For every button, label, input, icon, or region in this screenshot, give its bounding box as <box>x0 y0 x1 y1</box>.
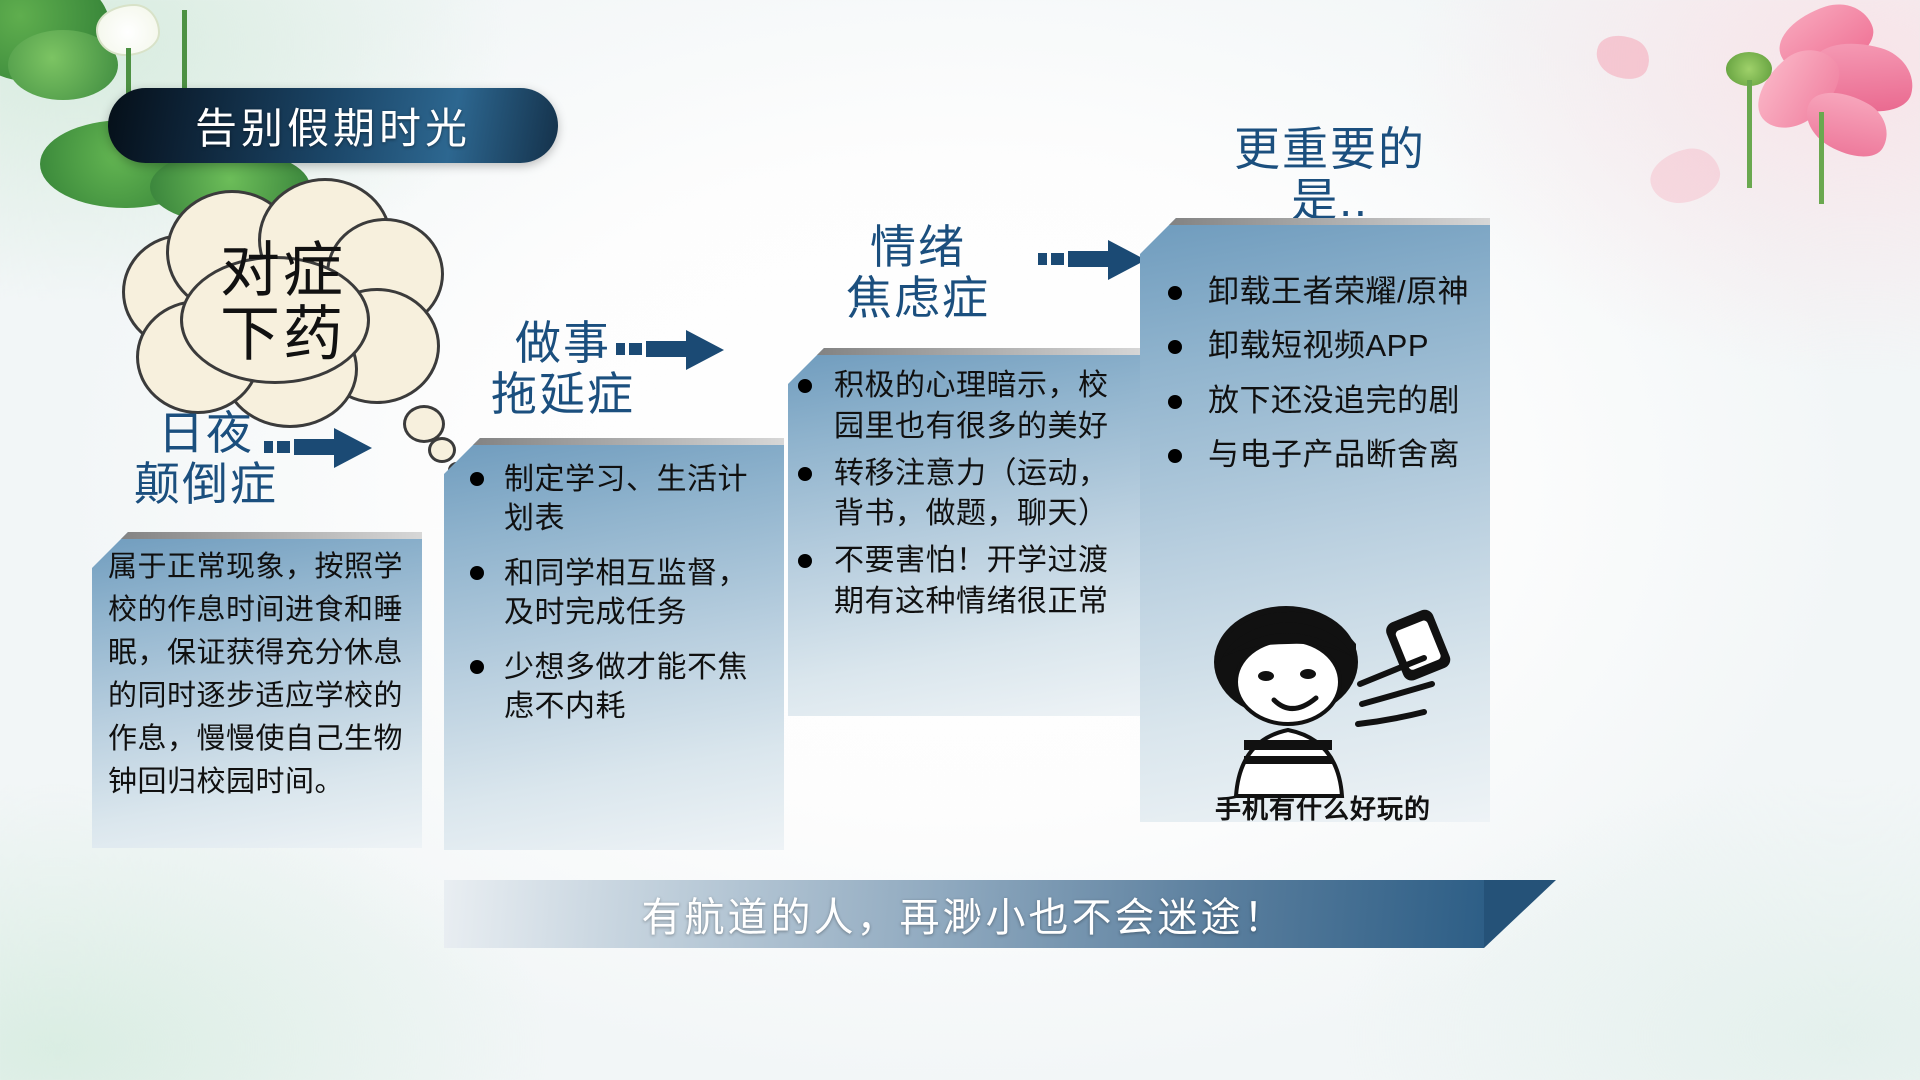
column-3-title-line2: 焦虑症 <box>788 273 1048 324</box>
list-item: 转移注意力（运动，背书，做题，聊天） <box>794 454 1136 536</box>
list-item: 和同学相互监督，及时完成任务 <box>460 554 770 632</box>
lotus-flower-decoration-top-right <box>1590 0 1920 230</box>
column-3-body: 积极的心理暗示，校园里也有很多的美好 转移注意力（运动，背书，做题，聊天） 不要… <box>788 348 1144 639</box>
lotus-pod-icon <box>1726 52 1772 86</box>
paragraph-line: 校的作息时间进食和睡 <box>108 589 408 632</box>
meme-caption-text: 手机有什么好玩的 <box>1178 789 1468 826</box>
lotus-stem-icon <box>1819 112 1824 204</box>
lily-pad-icon <box>0 0 110 82</box>
meme-illustration-icon <box>1178 600 1468 800</box>
column-1-body: 属于正常现象，按照学 校的作息时间进食和睡 眠，保证获得充分休息 的同时逐步适应… <box>92 532 422 813</box>
arrow-right-icon <box>616 326 726 374</box>
list-item: 放下还没追完的剧 <box>1156 381 1476 421</box>
thought-bubble-tail-medium <box>428 437 456 463</box>
column-4-title-line1: 更重要的 <box>1190 124 1470 175</box>
list-item: 卸载王者荣耀/原神 <box>1156 272 1476 312</box>
paragraph-line: 的同时逐步适应学校的 <box>108 675 408 718</box>
column-2-body: 制定学习、生活计划表 和同学相互监督，及时完成任务 少想多做才能不焦虑不内耗 <box>444 438 784 752</box>
list-item: 不要害怕！开学过渡期有这种情绪很正常 <box>794 541 1136 623</box>
list-item: 制定学习、生活计划表 <box>460 460 770 538</box>
thought-bubble-line1: 对症 <box>220 239 346 303</box>
lotus-petal-icon <box>1796 78 1898 169</box>
lotus-petal-icon <box>1743 36 1853 143</box>
meme-sticker: 手机有什么好玩的 <box>1178 600 1468 830</box>
column-3-bullet-list: 积极的心理暗示，校园里也有很多的美好 转移注意力（运动，背书，做题，聊天） 不要… <box>794 366 1136 623</box>
petal-drift-icon <box>1645 143 1724 208</box>
slide-title-text: 告别假期时光 <box>195 95 471 156</box>
lotus-flower-icon <box>96 4 160 56</box>
list-item: 与电子产品断舍离 <box>1156 435 1476 475</box>
column-2-bullet-list: 制定学习、生活计划表 和同学相互监督，及时完成任务 少想多做才能不焦虑不内耗 <box>460 460 770 726</box>
paragraph-line: 钟回归校园时间。 <box>108 761 408 804</box>
column-3-title-line1: 情绪 <box>788 222 1048 273</box>
column-4-bullet-list: 卸载王者荣耀/原神 卸载短视频APP 放下还没追完的剧 与电子产品断舍离 <box>1156 272 1476 475</box>
slide-title-badge: 告别假期时光 <box>108 88 558 163</box>
column-4-body: 卸载王者荣耀/原神 卸载短视频APP 放下还没追完的剧 与电子产品断舍离 <box>1140 218 1490 499</box>
lotus-petal-icon <box>1771 0 1881 83</box>
arrow-right-icon <box>264 424 374 472</box>
list-item: 卸载短视频APP <box>1156 326 1476 366</box>
paragraph-line: 作息，慢慢使自己生物 <box>108 718 408 761</box>
bottom-banner: 有航道的人，再渺小也不会迷途！ <box>444 880 1484 948</box>
petal-drift-icon <box>1590 27 1656 87</box>
thought-bubble: 对症 下药 <box>118 178 448 428</box>
lotus-petal-icon <box>1803 31 1920 123</box>
column-2-panel: 制定学习、生活计划表 和同学相互监督，及时完成任务 少想多做才能不焦虑不内耗 <box>444 438 784 850</box>
column-1-paragraph: 属于正常现象，按照学 校的作息时间进食和睡 眠，保证获得充分休息 的同时逐步适应… <box>108 546 408 803</box>
bottom-banner-text: 有航道的人，再渺小也不会迷途！ <box>642 885 1287 943</box>
list-item: 少想多做才能不焦虑不内耗 <box>460 648 770 726</box>
lotus-stem-icon <box>1747 80 1752 188</box>
column-3-title: 情绪 焦虑症 <box>788 222 1048 323</box>
thought-bubble-line2: 下药 <box>220 303 346 367</box>
paragraph-line: 眠，保证获得充分休息 <box>108 632 408 675</box>
column-4-title-line2: 是.. <box>1190 175 1470 226</box>
list-item: 积极的心理暗示，校园里也有很多的美好 <box>794 366 1136 448</box>
column-3-panel: 积极的心理暗示，校园里也有很多的美好 转移注意力（运动，背书，做题，聊天） 不要… <box>788 348 1144 716</box>
column-4-title: 更重要的 是.. <box>1190 124 1470 225</box>
arrow-right-icon <box>1038 236 1148 284</box>
thought-bubble-text: 对症 下药 <box>118 178 448 428</box>
paragraph-line: 属于正常现象，按照学 <box>108 546 408 589</box>
column-2-title-line2: 拖延症 <box>438 369 688 420</box>
bottom-banner-tail <box>1484 880 1556 948</box>
column-1-panel: 属于正常现象，按照学 校的作息时间进食和睡 眠，保证获得充分休息 的同时逐步适应… <box>92 532 422 848</box>
lily-pad-icon <box>8 30 118 100</box>
